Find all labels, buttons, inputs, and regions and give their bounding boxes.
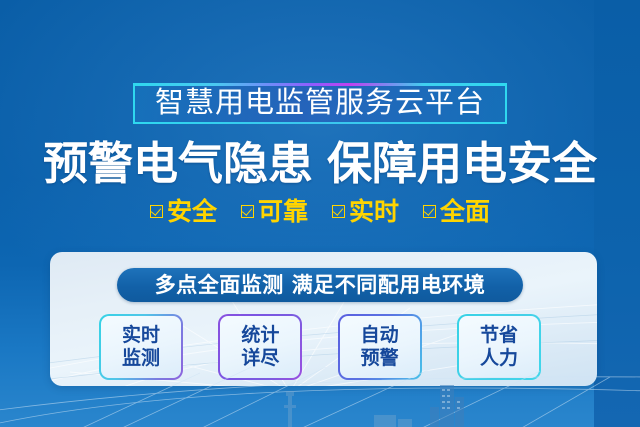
pill-left: 多点全面监测 <box>155 274 284 297</box>
feature-line-2: 监测 <box>122 348 160 369</box>
feature-box-row: 实时 监测 统计 详尽 自动 预警 节省 人力 <box>99 314 541 380</box>
feature-box-inner: 自动 预警 <box>340 316 420 378</box>
feature-line-2: 预警 <box>361 348 399 369</box>
pill-right: 满足不同配用电环境 <box>292 274 486 297</box>
feature-box-detailed-statistics[interactable]: 统计 详尽 <box>218 314 302 380</box>
card-subtitle-text: 多点全面监测满足不同配用电环境 <box>155 275 486 296</box>
checklist-label: 可靠 <box>258 200 308 225</box>
feature-box-inner: 节省 人力 <box>459 316 539 378</box>
checkbox-checked-icon <box>423 205 436 218</box>
headline-right: 保障用电安全 <box>327 138 597 189</box>
feature-box-auto-alert[interactable]: 自动 预警 <box>338 314 422 380</box>
checkbox-checked-icon <box>150 205 163 218</box>
headline: 预警电气隐患保障用电安全 <box>0 140 640 187</box>
feature-box-inner: 统计 详尽 <box>220 316 300 378</box>
platform-title-box: 智慧用电监管服务云平台 <box>133 83 507 124</box>
checklist-label: 全面 <box>440 200 490 225</box>
checklist-item-realtime: 实时 <box>332 200 399 225</box>
checklist-item-safety: 安全 <box>150 200 217 225</box>
headline-left: 预警电气隐患 <box>43 138 313 189</box>
feature-line-1: 自动 <box>361 325 399 346</box>
feature-line-1: 统计 <box>241 325 279 346</box>
checklist-row: 安全 可靠 实时 全面 <box>0 200 640 225</box>
feature-box-realtime-monitoring[interactable]: 实时 监测 <box>99 314 183 380</box>
checkbox-checked-icon <box>332 205 345 218</box>
checklist-label: 实时 <box>349 200 399 225</box>
checklist-item-comprehensive: 全面 <box>423 200 490 225</box>
checklist-item-reliable: 可靠 <box>241 200 308 225</box>
feature-line-1: 节省 <box>480 325 518 346</box>
feature-box-save-manpower[interactable]: 节省 人力 <box>457 314 541 380</box>
checklist-label: 安全 <box>167 200 217 225</box>
platform-title-text: 智慧用电监管服务云平台 <box>155 89 485 118</box>
checkbox-checked-icon <box>241 205 254 218</box>
feature-line-2: 人力 <box>480 348 518 369</box>
feature-line-1: 实时 <box>122 325 160 346</box>
card-subtitle-pill: 多点全面监测满足不同配用电环境 <box>117 268 523 302</box>
feature-box-inner: 实时 监测 <box>101 316 181 378</box>
feature-line-2: 详尽 <box>241 348 279 369</box>
promo-poster: 智慧用电监管服务云平台 预警电气隐患保障用电安全 安全 可靠 实时 全面 <box>0 0 640 427</box>
